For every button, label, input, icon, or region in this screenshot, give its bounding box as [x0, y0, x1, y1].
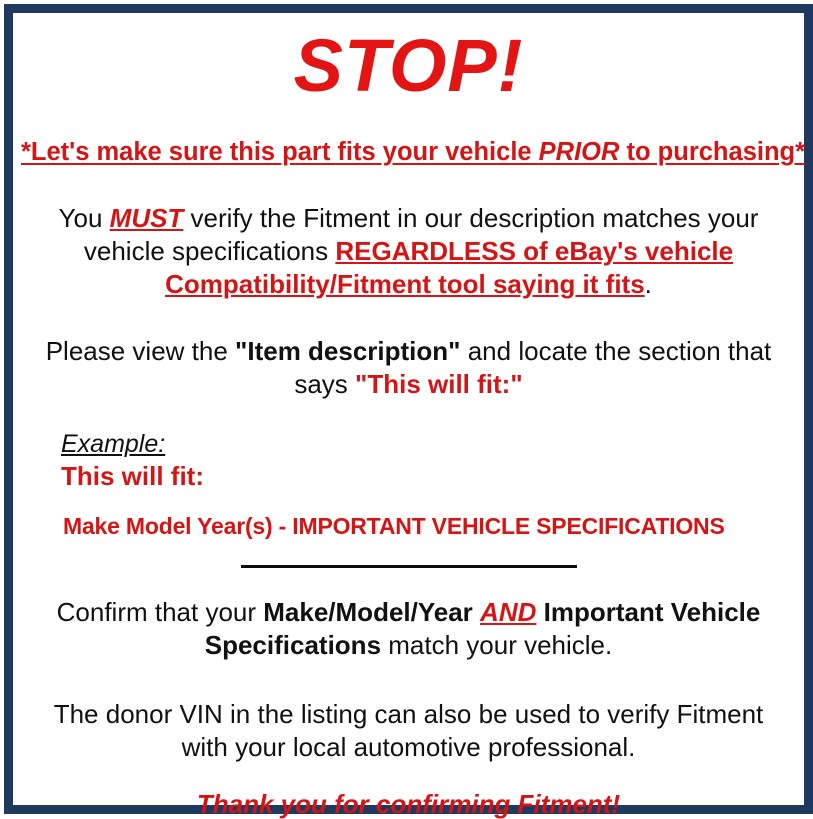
must-text-part1: You [59, 203, 110, 233]
tagline-before: *Let's make sure this part fits your veh… [21, 138, 539, 166]
tagline-after: to purchasing* [619, 138, 805, 166]
this-will-fit-quote: "This will fit:" [355, 369, 523, 399]
view-text-part1: Please view the [46, 336, 235, 366]
separator-wrap [21, 539, 796, 568]
item-description-label: "Item description" [235, 336, 460, 366]
confirm-text-part2: match your vehicle. [381, 630, 612, 660]
example-label: Example: [61, 431, 796, 459]
confirm-space1 [473, 597, 480, 627]
item-description-paragraph: Please view the "Item description" and l… [21, 301, 796, 401]
confirm-text-part1: Confirm that your [57, 597, 264, 627]
make-model-year-label: Make/Model/Year [263, 597, 473, 627]
must-emphasis: MUST [110, 203, 184, 233]
example-block: Example: This will fit: Make Model Year(… [21, 401, 796, 539]
tagline-prior-emphasis: PRIOR [539, 138, 620, 166]
confirm-space2 [536, 597, 543, 627]
tagline: *Let's make sure this part fits your veh… [21, 103, 796, 166]
must-verify-paragraph: You MUST verify the Fitment in our descr… [21, 166, 796, 301]
donor-vin-paragraph: The donor VIN in the listing can also be… [21, 662, 796, 764]
notice-frame: STOP! *Let's make sure this part fits yo… [0, 0, 813, 814]
example-this-will-fit: This will fit: [61, 459, 796, 492]
example-vehicle-specifications: Make Model Year(s) - IMPORTANT VEHICLE S… [61, 492, 796, 539]
notice-border: STOP! *Let's make sure this part fits yo… [4, 4, 813, 814]
stop-headline: STOP! [21, 13, 796, 103]
and-emphasis: AND [480, 597, 536, 627]
confirm-paragraph: Confirm that your Make/Model/Year AND Im… [21, 568, 796, 662]
notice-body: STOP! *Let's make sure this part fits yo… [13, 13, 804, 805]
must-text-part3: . [645, 269, 652, 299]
thank-you-line: Thank you for confirming Fitment! [21, 764, 796, 819]
